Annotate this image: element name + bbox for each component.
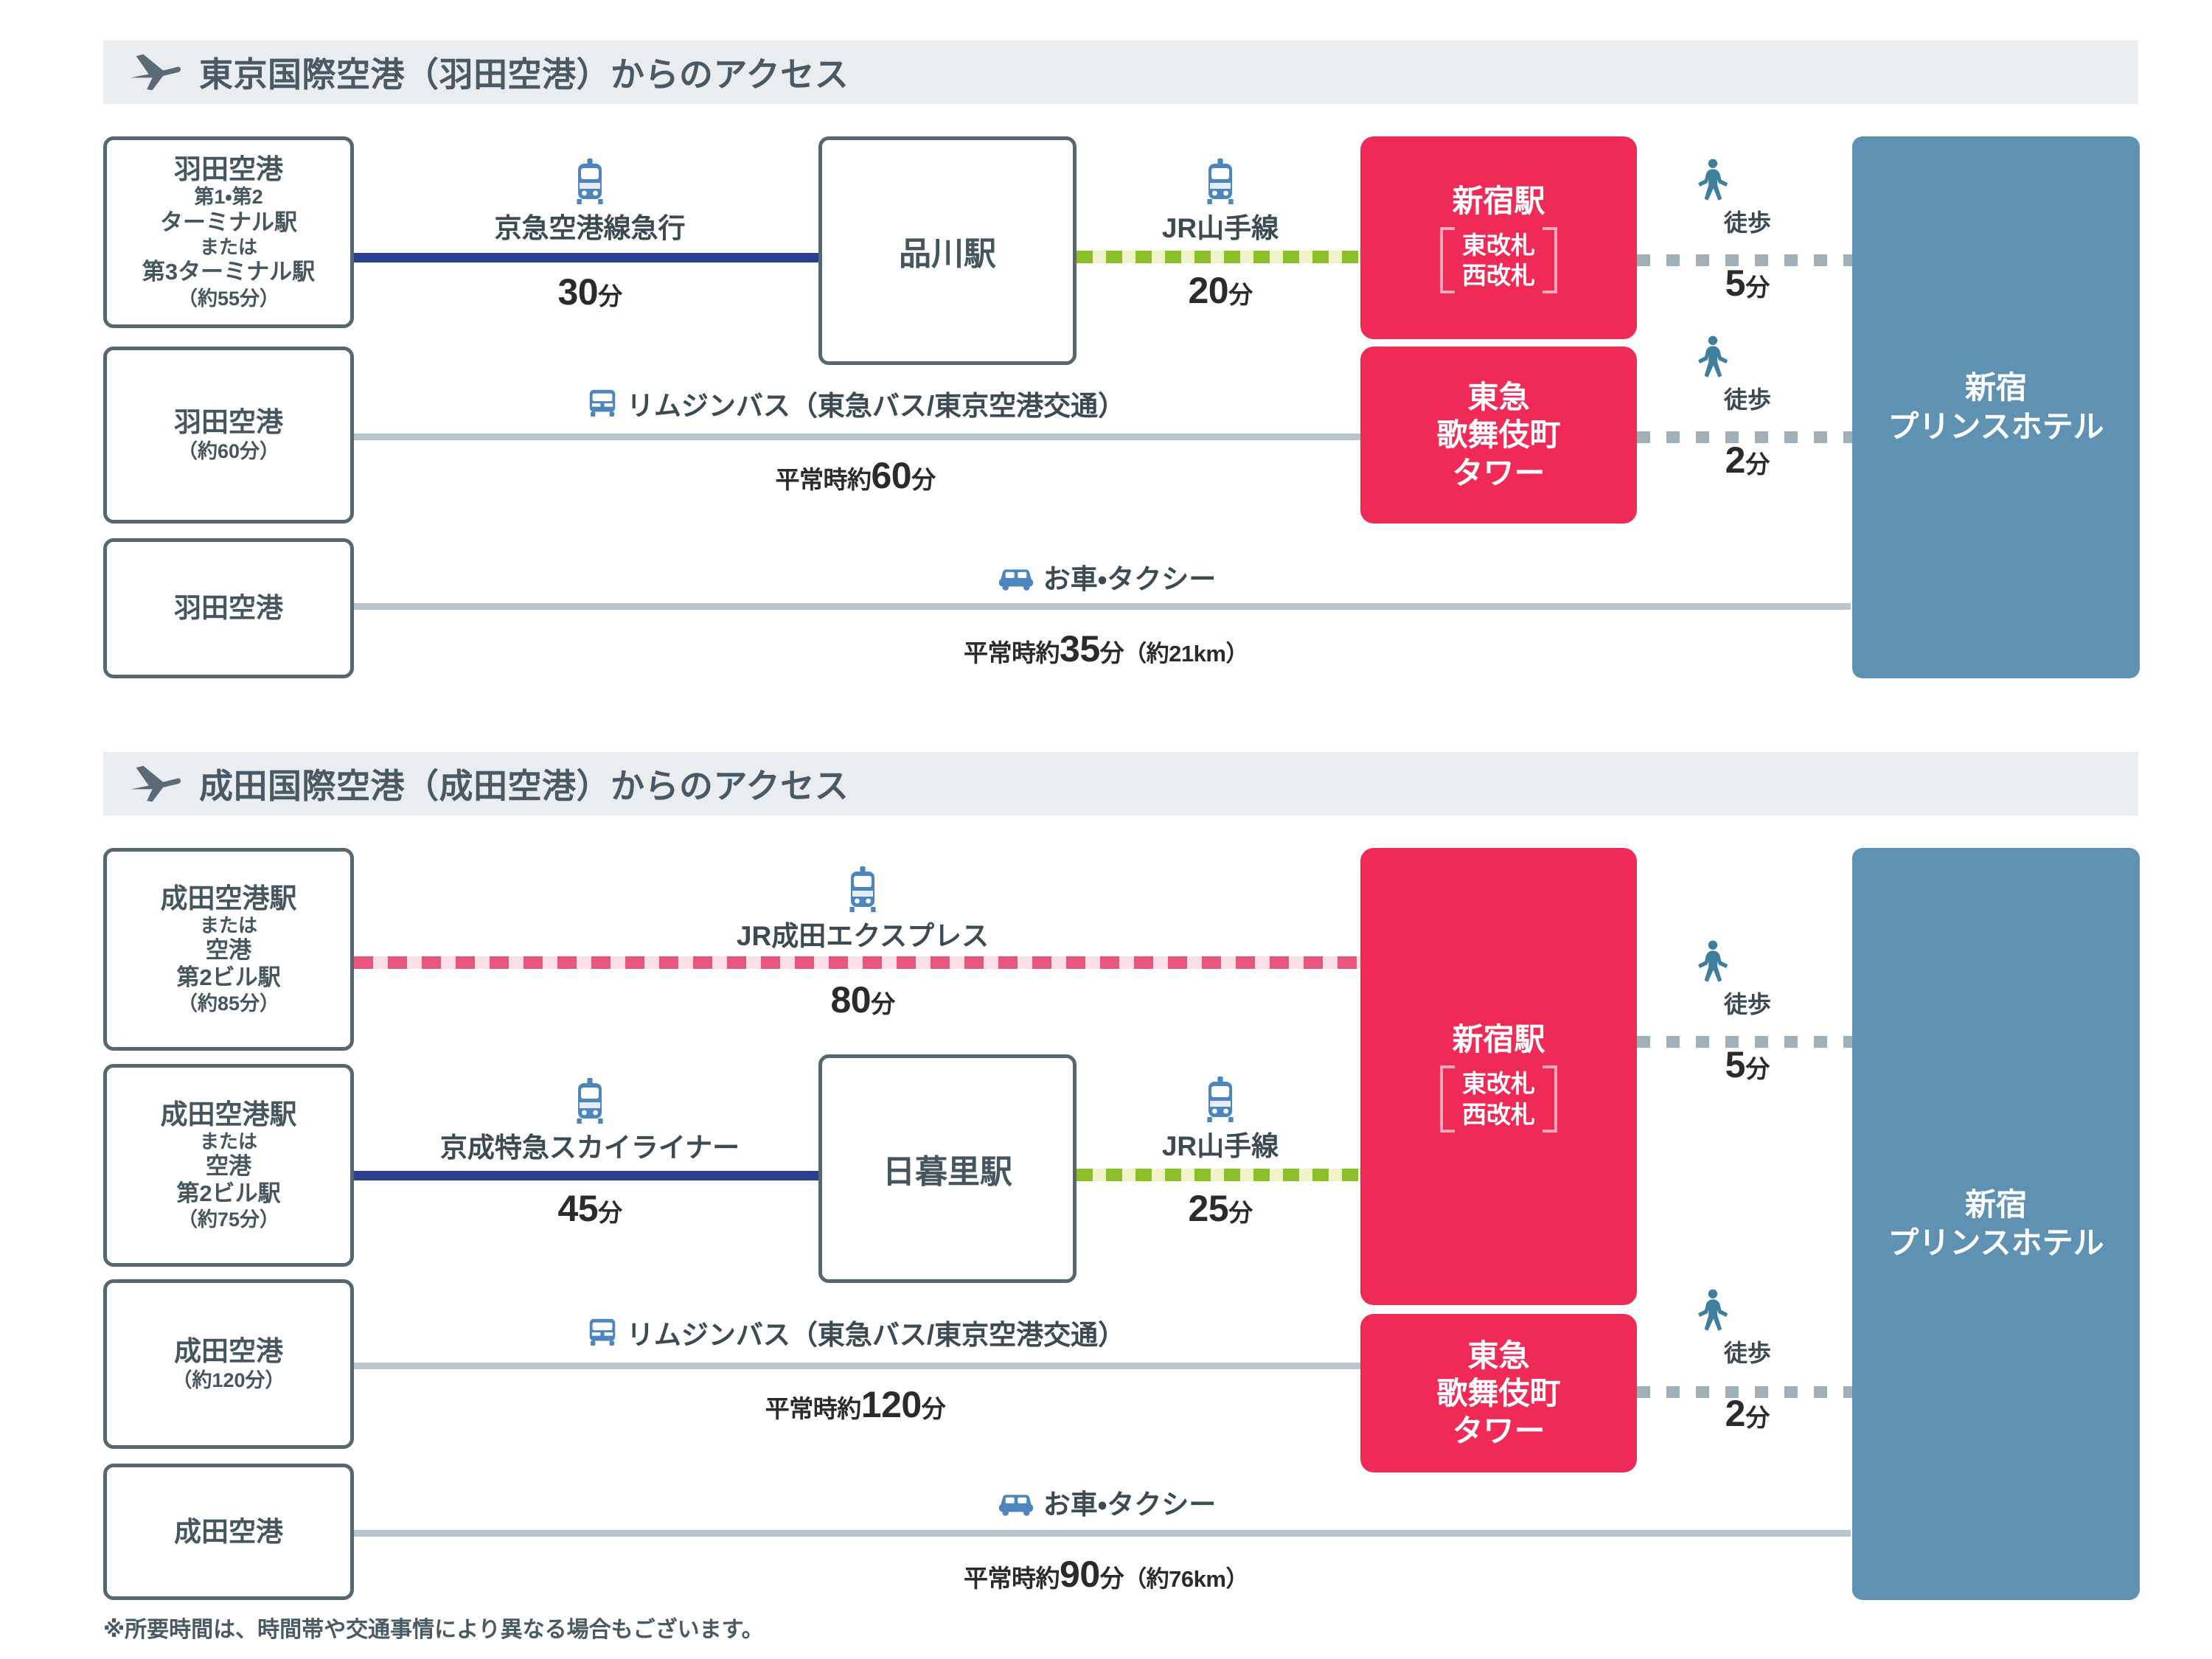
walk-label-kabukicho: 徒歩 2分 xyxy=(1696,335,1799,481)
route-label-yamanote-narita: JR山手線 25分 xyxy=(1099,1077,1342,1230)
origin-line: 空港 xyxy=(206,1153,251,1180)
route-time-value: 120 xyxy=(861,1384,922,1425)
section-title: 成田国際空港（成田空港）からのアクセス xyxy=(199,759,849,808)
origin-note: （約75分） xyxy=(178,1208,279,1232)
route-time: 平常時約90分（約76km） xyxy=(796,1553,1416,1596)
origin-box-haneda-terminals: 羽田空港 第1・第2 ターミナル駅 または 第3ターミナル駅 （約55分） xyxy=(103,136,354,328)
route-name-with-icon: お車・タクシー xyxy=(796,1482,1416,1522)
origin-note: （約85分） xyxy=(178,992,279,1016)
station-card-shinjuku: 新宿駅 東改札 西改札 xyxy=(1360,136,1637,339)
route-time-unit: 分 xyxy=(871,990,895,1018)
route-label-yamanote: JR山手線 20分 xyxy=(1099,159,1342,312)
gate-label: 東改札 xyxy=(1462,1070,1535,1097)
station-name: 日暮里駅 xyxy=(883,1145,1012,1192)
route-label-bus: リムジンバス（東急バス/東京空港交通） 平常時約60分 xyxy=(442,383,1268,497)
route-time-value: 90 xyxy=(1060,1554,1100,1595)
route-name: 京急空港線急行 xyxy=(413,206,767,246)
hotel-name-line: プリンスホテル xyxy=(1888,408,2104,447)
walk-time: 5分 xyxy=(1696,262,1799,305)
bus-icon xyxy=(585,1315,619,1349)
route-label-narita-express: JR成田エクスプレス 80分 xyxy=(664,866,1062,1021)
route-distance: （約21km） xyxy=(1124,641,1248,667)
walk-time: 2分 xyxy=(1696,439,1799,481)
route-time-unit: 分 xyxy=(1100,1565,1124,1592)
walk-time-unit: 分 xyxy=(1745,1404,1770,1431)
walk-time-value: 5 xyxy=(1725,262,1746,304)
section-header-haneda: 東京国際空港（羽田空港）からのアクセス xyxy=(103,41,2138,104)
route-name: JR山手線 xyxy=(1099,206,1342,246)
station-name-line: 歌舞伎町 xyxy=(1436,1374,1560,1412)
origin-box-narita-nex: 成田空港駅 または 空港 第2ビル駅 （約85分） xyxy=(103,848,354,1051)
station-gates: 東改札 西改札 xyxy=(1440,1065,1557,1133)
destination-hotel-narita: 新宿 プリンスホテル xyxy=(1852,848,2140,1600)
route-name: JR成田エクスプレス xyxy=(664,914,1062,953)
origin-line: 成田空港駅 xyxy=(161,1099,297,1131)
route-time-unit: 分 xyxy=(1100,639,1124,667)
origin-line: 第2ビル駅 xyxy=(176,964,280,992)
route-time-prefix: 平常時約 xyxy=(964,639,1060,667)
pedestrian-icon xyxy=(1696,940,1730,984)
station-gates: 東改札 西改札 xyxy=(1440,227,1557,294)
route-name: JR山手線 xyxy=(1099,1124,1342,1164)
route-time-prefix: 平常時約 xyxy=(775,466,871,493)
walk-time-value: 2 xyxy=(1725,1393,1746,1434)
walk-time-unit: 分 xyxy=(1745,274,1770,301)
bus-icon xyxy=(585,386,619,420)
station-card-shinjuku-narita: 新宿駅 東改札 西改札 xyxy=(1360,848,1637,1305)
station-card-kabukicho-tower: 東急 歌舞伎町 タワー xyxy=(1360,347,1637,524)
route-time-unit: 分 xyxy=(598,282,622,310)
route-time: 45分 xyxy=(391,1187,789,1230)
route-time: 平常時約60分 xyxy=(442,454,1268,497)
pedestrian-icon xyxy=(1696,1289,1730,1333)
destination-hotel-haneda: 新宿 プリンスホテル xyxy=(1852,136,2140,678)
route-time-unit: 分 xyxy=(1228,1199,1253,1226)
station-name: 新宿駅 xyxy=(1452,1020,1545,1058)
route-time: 平常時約120分 xyxy=(442,1383,1268,1426)
route-name: お車・タクシー xyxy=(1043,1482,1217,1522)
walk-text: 徒歩 xyxy=(1696,986,1799,1020)
train-icon xyxy=(571,159,609,204)
route-time-unit: 分 xyxy=(911,466,936,493)
origin-line: 第2ビル駅 xyxy=(176,1180,280,1208)
walk-label-kabukicho-narita: 徒歩 2分 xyxy=(1696,1289,1799,1435)
gate-label: 西改札 xyxy=(1462,262,1535,289)
route-time: 20分 xyxy=(1099,269,1342,312)
origin-line: または xyxy=(200,236,257,259)
route-label-keikyu: 京急空港線急行 30分 xyxy=(413,159,767,313)
station-card-kabukicho-tower-narita: 東急 歌舞伎町 タワー xyxy=(1360,1314,1637,1472)
airplane-icon xyxy=(125,762,183,806)
gate-label: 西改札 xyxy=(1462,1101,1535,1128)
train-icon xyxy=(571,1078,609,1124)
hotel-name-line: 新宿 xyxy=(1965,369,2027,408)
route-time: 30分 xyxy=(413,271,767,313)
route-name: リムジンバス（東急バス/東京空港交通） xyxy=(627,1312,1125,1352)
route-time-value: 60 xyxy=(871,455,911,496)
origin-box-narita-bus: 成田空港 （約120分） xyxy=(103,1279,354,1449)
route-label-taxi-narita: お車・タクシー 平常時約90分（約76km） xyxy=(796,1482,1416,1596)
origin-box-narita-skyliner: 成田空港駅 または 空港 第2ビル駅 （約75分） xyxy=(103,1064,354,1267)
route-label-skyliner: 京成特急スカイライナー 45分 xyxy=(391,1078,789,1230)
train-icon xyxy=(844,866,882,912)
station-name-line: 東急 xyxy=(1467,1337,1529,1374)
route-label-taxi: お車・タクシー 平常時約35分（約21km） xyxy=(796,557,1416,670)
origin-line: または xyxy=(200,1130,257,1153)
station-name-line: タワー xyxy=(1452,1412,1545,1450)
origin-line: 羽田空港 xyxy=(174,153,283,186)
pedestrian-icon xyxy=(1696,335,1730,380)
route-name-with-icon: リムジンバス（東急バス/東京空港交通） xyxy=(442,383,1268,423)
station-name-line: タワー xyxy=(1452,454,1545,492)
route-time-prefix: 平常時約 xyxy=(765,1395,861,1422)
route-time-value: 30 xyxy=(557,271,598,313)
access-diagram: 東京国際空港（羽田空港）からのアクセス 羽田空港 第1・第2 ターミナル駅 また… xyxy=(0,0,2212,1659)
hotel-name-line: 新宿 xyxy=(1965,1186,2027,1225)
station-name-line: 歌舞伎町 xyxy=(1436,416,1560,453)
route-time: 平常時約35分（約21km） xyxy=(796,627,1416,670)
route-name-with-icon: リムジンバス（東急バス/東京空港交通） xyxy=(442,1312,1268,1352)
origin-line: または xyxy=(200,914,257,937)
station-name: 新宿駅 xyxy=(1452,182,1545,220)
train-icon xyxy=(1201,1077,1239,1122)
route-time-unit: 分 xyxy=(1228,281,1253,308)
airplane-icon xyxy=(125,50,183,94)
origin-line: 第3ターミナル駅 xyxy=(142,259,315,286)
walk-label-shinjuku: 徒歩 5分 xyxy=(1696,159,1799,305)
route-time-value: 25 xyxy=(1188,1188,1228,1229)
car-icon xyxy=(996,1487,1036,1517)
origin-line: 羽田空港 xyxy=(174,592,283,625)
route-time-value: 45 xyxy=(557,1188,598,1229)
station-name-line: 東急 xyxy=(1467,378,1529,416)
origin-line: 成田空港 xyxy=(174,1335,283,1368)
origin-box-haneda-taxi: 羽田空港 xyxy=(103,538,354,678)
walk-time: 5分 xyxy=(1696,1043,1799,1086)
origin-line: ターミナル駅 xyxy=(160,209,297,237)
section-title: 東京国際空港（羽田空港）からのアクセス xyxy=(199,48,849,97)
route-time-prefix: 平常時約 xyxy=(964,1565,1060,1592)
walk-text: 徒歩 xyxy=(1696,381,1799,415)
route-time-unit: 分 xyxy=(922,1395,946,1422)
station-box-shinagawa: 品川駅 xyxy=(818,136,1077,365)
origin-line: 第1・第2 xyxy=(194,186,262,209)
route-time: 80分 xyxy=(664,978,1062,1021)
footnote: ※所要時間は、時間帯や交通事情により異なる場合もございます。 xyxy=(103,1611,764,1644)
pedestrian-icon xyxy=(1696,159,1730,203)
route-name: 京成特急スカイライナー xyxy=(391,1125,789,1165)
station-name: 品川駅 xyxy=(899,227,996,274)
origin-line: 成田空港 xyxy=(174,1516,283,1548)
train-icon xyxy=(1201,159,1239,204)
origin-note: （約55分） xyxy=(178,288,279,311)
route-time-value: 20 xyxy=(1188,270,1228,311)
origin-line: 空港 xyxy=(206,937,251,964)
origin-box-narita-taxi: 成田空港 xyxy=(103,1464,354,1600)
route-name-with-icon: お車・タクシー xyxy=(796,557,1416,597)
walk-label-shinjuku-narita: 徒歩 5分 xyxy=(1696,940,1799,1086)
walk-text: 徒歩 xyxy=(1696,1335,1799,1368)
gate-label: 東改札 xyxy=(1462,232,1535,259)
route-distance: （約76km） xyxy=(1124,1566,1248,1592)
route-name: お車・タクシー xyxy=(1043,557,1217,597)
origin-line: 羽田空港 xyxy=(174,406,283,439)
route-time: 25分 xyxy=(1099,1187,1342,1230)
walk-time-value: 5 xyxy=(1725,1044,1746,1085)
route-time-value: 35 xyxy=(1060,628,1100,669)
route-time-unit: 分 xyxy=(598,1199,622,1226)
walk-time-unit: 分 xyxy=(1745,1055,1770,1082)
section-header-narita: 成田国際空港（成田空港）からのアクセス xyxy=(103,752,2138,815)
walk-text: 徒歩 xyxy=(1696,204,1799,238)
hotel-name-line: プリンスホテル xyxy=(1888,1224,2104,1263)
route-time-value: 80 xyxy=(830,979,871,1020)
origin-note: （約60分） xyxy=(178,440,279,464)
walk-time: 2分 xyxy=(1696,1392,1799,1435)
origin-line: 成田空港駅 xyxy=(161,883,297,915)
origin-note: （約120分） xyxy=(172,1369,285,1393)
car-icon xyxy=(996,562,1036,591)
walk-time-value: 2 xyxy=(1725,439,1746,481)
route-name: リムジンバス（東急バス/東京空港交通） xyxy=(627,383,1125,423)
origin-box-haneda-bus: 羽田空港 （約60分） xyxy=(103,347,354,524)
route-label-bus-narita: リムジンバス（東急バス/東京空港交通） 平常時約120分 xyxy=(442,1312,1268,1426)
walk-time-unit: 分 xyxy=(1745,451,1770,478)
station-box-nippori: 日暮里駅 xyxy=(818,1054,1077,1283)
